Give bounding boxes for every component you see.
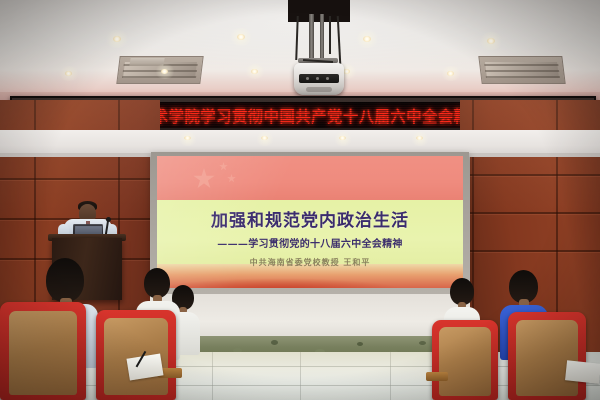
slide-flag-banner	[157, 156, 463, 200]
ac-vent-right	[478, 56, 565, 84]
seat-armrest	[426, 372, 448, 381]
ceiling-projector	[294, 63, 344, 95]
microphone-head	[106, 217, 111, 222]
seat-backrest	[439, 327, 492, 396]
projection-slide: 加强和规范党内政治生活 ———学习贯彻党的十八届六中全会精神 中共海南省委党校教…	[157, 156, 463, 288]
soffit-downlight-1	[184, 136, 191, 140]
downlight-9	[447, 71, 454, 76]
downlight-2	[237, 34, 245, 40]
lecture-hall-photo: 海南经贸职业技术学院学习贯彻中国共产党十八届六中全会精神辅导报告会	[0, 0, 600, 400]
seat-front-left-2[interactable]	[96, 310, 176, 400]
notebook-right	[565, 360, 600, 383]
seat-right-2[interactable]	[508, 312, 586, 400]
downlight-5	[65, 71, 72, 76]
downlight-3	[363, 36, 371, 42]
downlight-4	[487, 38, 495, 44]
slide-presenter: 中共海南省委党校教授 王和平	[157, 257, 463, 268]
flag-star-small-2	[227, 174, 236, 183]
projector-control-panel	[299, 74, 339, 83]
audience-head	[144, 268, 170, 298]
seat-front-left-1[interactable]	[0, 302, 86, 400]
slide-subtitle: ———学习贯彻党的十八届六中全会精神	[157, 235, 463, 250]
downlight-7	[251, 69, 258, 74]
seat-backrest	[9, 311, 78, 395]
downlight-1	[113, 36, 121, 42]
soffit-downlight-2	[261, 136, 268, 140]
audience-head	[46, 258, 84, 302]
flag-star-large	[193, 168, 215, 190]
soffit-downlight-4	[416, 136, 423, 140]
floor-reflection	[150, 352, 470, 382]
slide-title: 加强和规范党内政治生活	[157, 206, 463, 231]
projector-mount-pole	[309, 14, 314, 60]
seat-backrest	[516, 320, 578, 396]
downlight-8	[343, 69, 350, 74]
projector-cable-3	[329, 16, 331, 54]
soffit-downlight-3	[339, 136, 346, 140]
downlight-6	[161, 69, 168, 74]
projector-lens	[306, 87, 332, 92]
audience-head	[450, 278, 474, 305]
seat-right-1[interactable]	[432, 320, 498, 400]
projector-mount-pole-2	[320, 14, 324, 60]
flag-star-small-1	[219, 162, 228, 171]
